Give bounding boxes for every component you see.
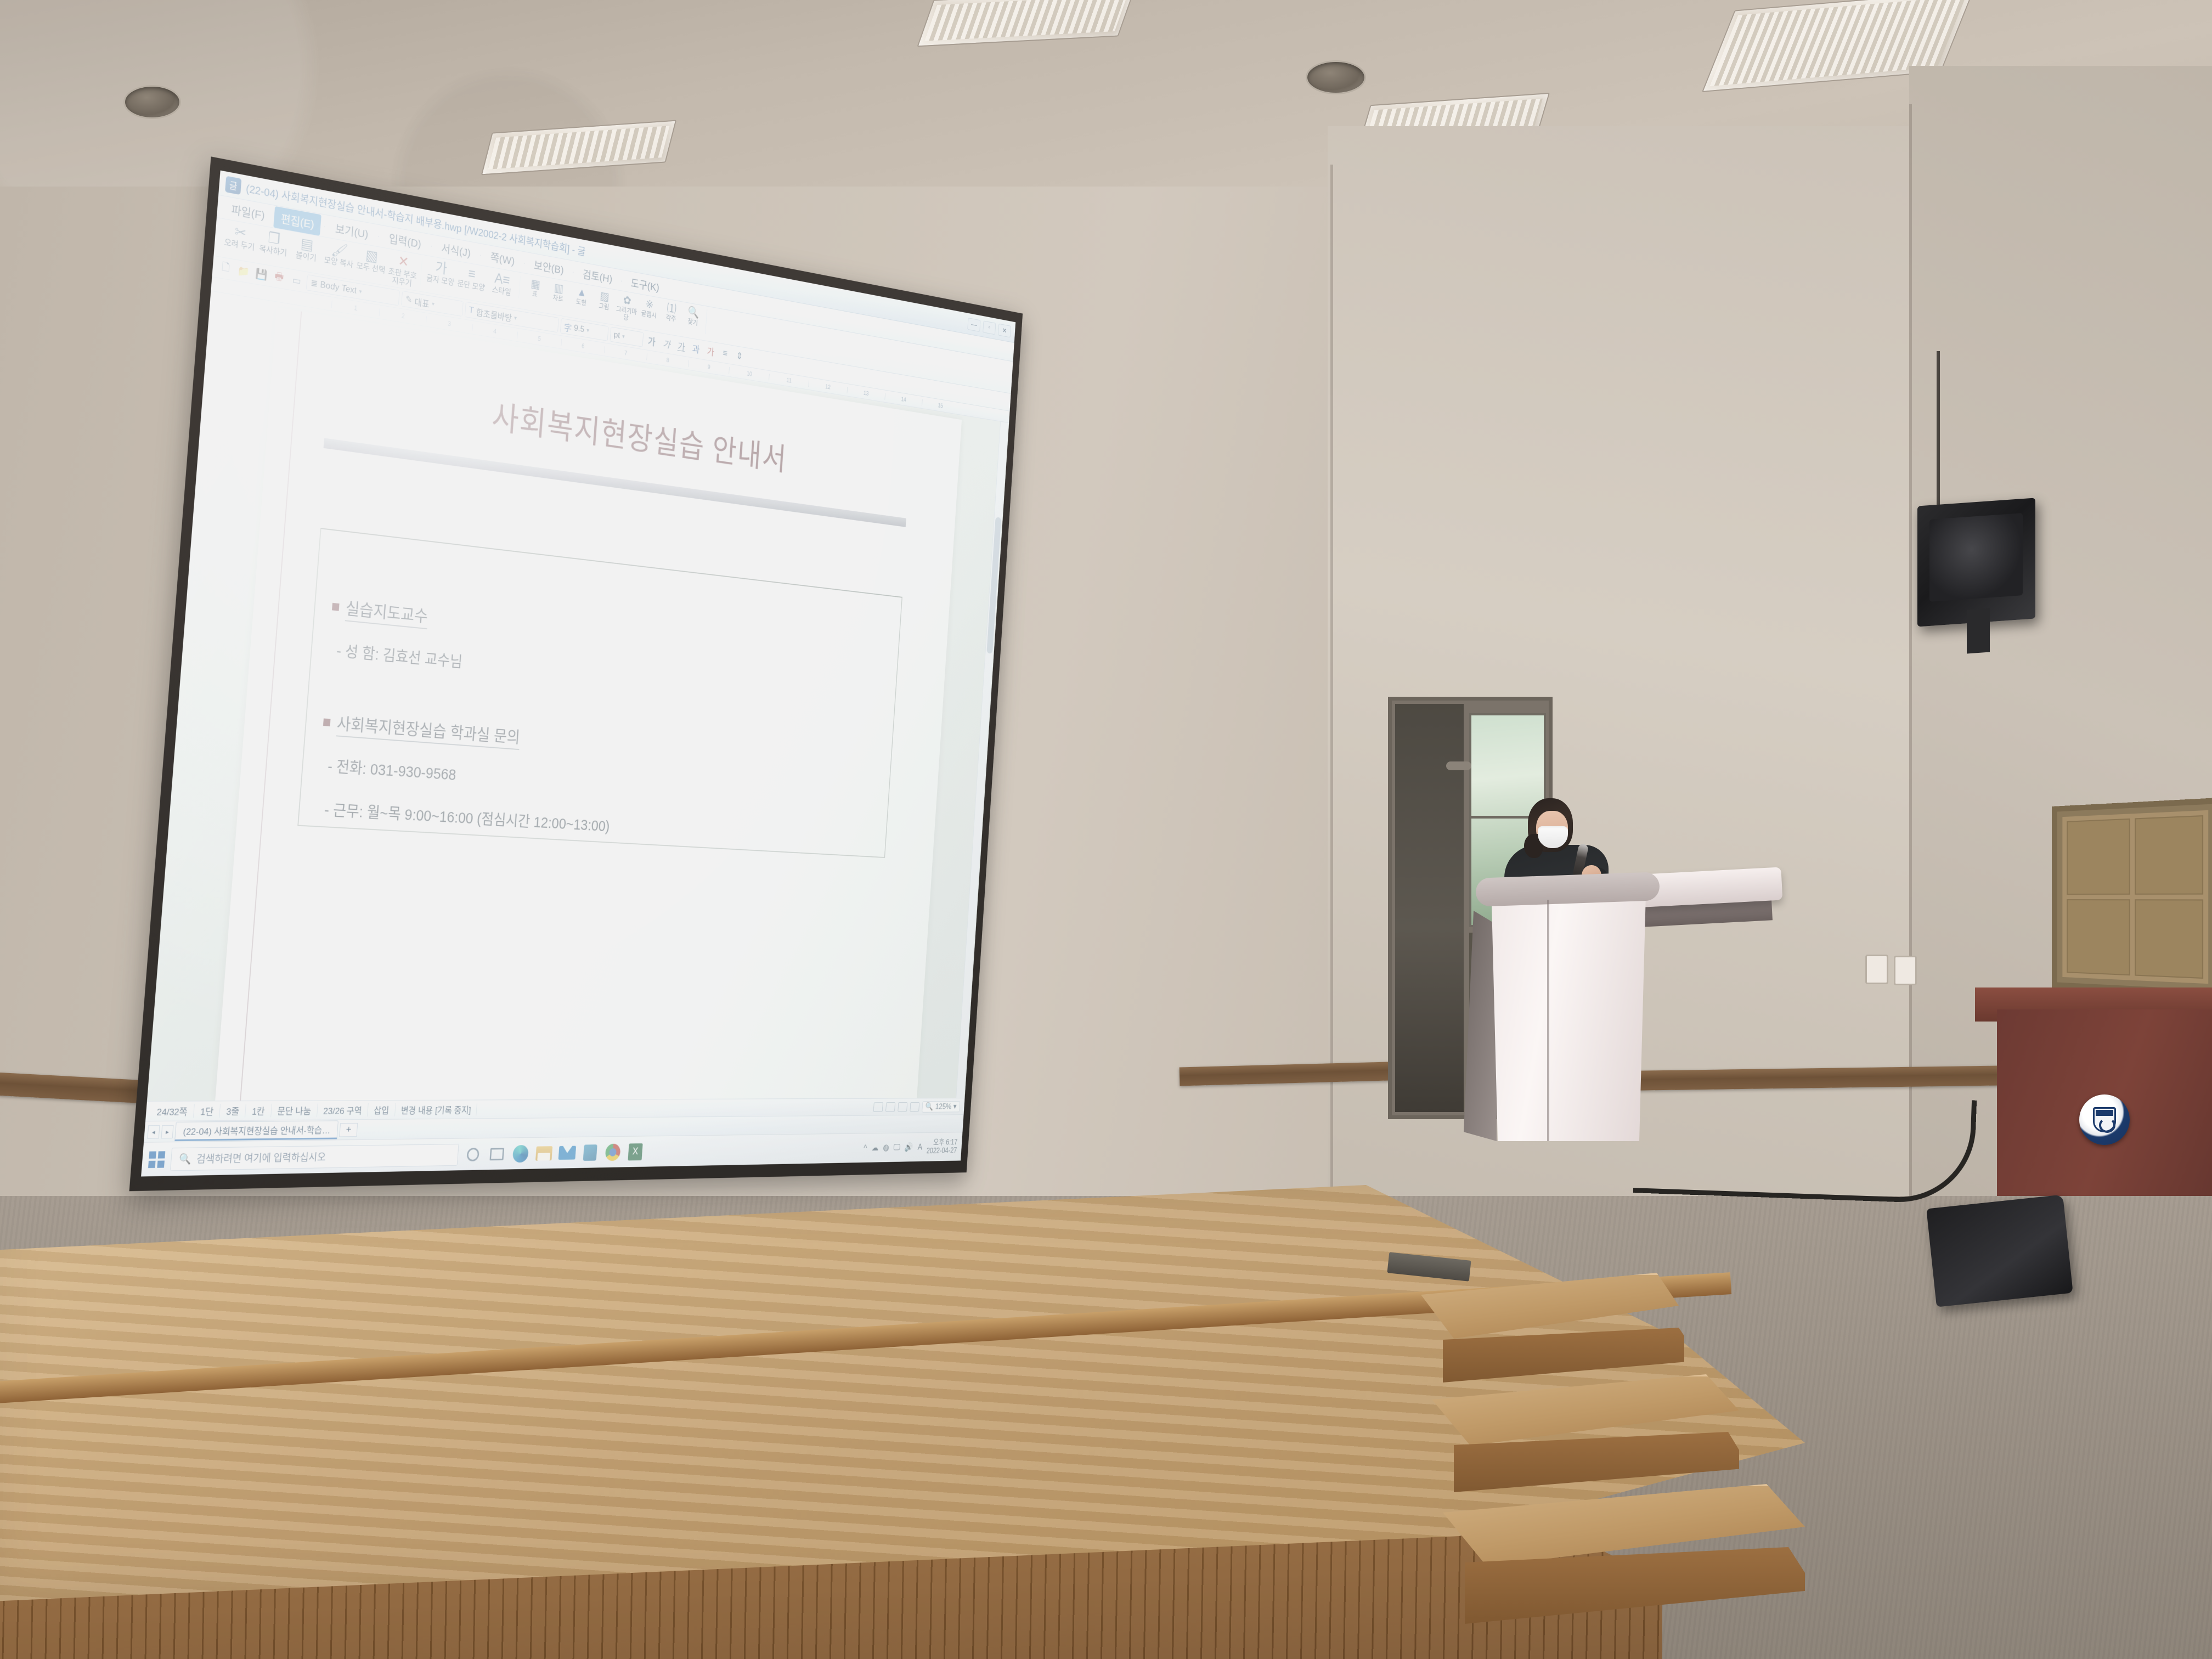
text-color-button[interactable]: 과 [689,341,703,357]
page-view-icon[interactable] [873,1102,883,1111]
shape-icon: ▲ [577,286,587,298]
style-icon: A≡ [494,271,511,287]
app-logo-icon: 글 [225,176,241,195]
clipart-button[interactable]: ✿ 그리기마당 [616,293,638,322]
bullet-text: 실습지도교수 [345,595,428,629]
wordart-icon: ※ [645,298,654,311]
chevron-down-icon: ▾ [622,332,625,340]
menu-separator: · [523,258,526,267]
cut-button[interactable]: ✂ 오려 두기 [223,223,257,252]
store-icon[interactable] [580,1142,600,1163]
square-bullet-icon [323,719,330,727]
projection-screen: 글 (22-04) 사회복지현장실습 안내서-학습지 배부용.hwp [/W20… [141,171,1015,1177]
status-track-changes[interactable]: 변경 내용 [기록 중지] [395,1103,478,1116]
status-right-controls: 🔍 125% ▾ [873,1101,962,1113]
find-button[interactable]: 🔍 찾기 [682,305,704,327]
clock-time: 오후 6:17 [927,1138,957,1147]
excel-icon[interactable]: X [626,1142,645,1162]
paste-icon: ▤ [300,236,314,253]
ceiling-downlight [1306,60,1366,94]
find-label: 찾기 [687,318,698,326]
file-explorer-icon[interactable] [534,1143,554,1164]
content-text-box[interactable]: 실습지도교수 - 성 함: 김효선 교수님 사회복지현장실습 학과실 문의 - … [297,528,902,858]
facing-page-icon[interactable] [898,1102,907,1111]
chevron-down-icon: ▾ [953,1102,957,1111]
clear-marks-label: 조판 부호 지우기 [387,267,417,289]
shape-button[interactable]: ▲ 도형 [571,285,593,308]
floor-cable [1633,1088,1977,1205]
hancom-tray-icon[interactable]: ◍ [883,1143,889,1153]
copy-label: 복사하기 [259,245,287,258]
single-page-icon[interactable] [885,1102,895,1111]
tab-next-button[interactable]: ▸ [161,1125,174,1138]
print-icon[interactable]: 🖶 [271,269,287,286]
menu-separator: · [377,232,380,240]
wall-outlet [1865,955,1888,984]
status-insert-mode[interactable]: 삽입 [368,1103,396,1116]
taskbar-search-input[interactable]: 🔍 검색하려면 여기에 입력하십시오 [170,1144,459,1171]
footnote-button[interactable]: ⑴ 각주 [661,301,682,323]
wordart-button[interactable]: ※ 글맵시 [639,297,661,319]
task-view-icon[interactable] [487,1143,507,1164]
paragraph-icon: ≡ [468,267,476,281]
bold-button[interactable]: 가 [645,333,658,349]
close-button[interactable]: ✕ [998,323,1011,337]
paste-label: 붙이기 [296,251,317,263]
font-style-icon: 가 [435,261,448,276]
minimize-button[interactable]: — [967,318,980,332]
tab-prev-button[interactable]: ◂ [147,1125,160,1138]
line-spacing-button[interactable]: ⇕ [733,348,746,364]
unit-combo[interactable]: pt ▾ [610,327,644,347]
font-size-value: 9.5 [573,323,584,335]
status-paragraph-break: 문단 나눔 [271,1104,318,1118]
char-style-icon: ✎ [405,294,413,306]
document-tab[interactable]: (22-04) 사회복지현장실습 안내서-학습… [174,1120,338,1141]
open-icon[interactable]: 📁 [235,263,252,280]
select-all-label: 모두 선택 [356,262,385,275]
menu-separator: · [430,241,433,250]
clear-marks-button[interactable]: ✕ 조판 부호 지우기 [387,252,419,289]
display-icon[interactable]: 🖵 [893,1143,900,1153]
style-combo-value: Body Text [320,279,357,296]
new-document-icon[interactable]: 🗋 [217,259,234,277]
windows-logo-icon[interactable] [148,1151,165,1168]
italic-button[interactable]: 가 [660,336,674,352]
preview-icon[interactable]: ▭ [289,272,304,290]
chevron-down-icon: ▾ [359,287,362,295]
podium-door-seam [1547,900,1549,1141]
taskbar-clock[interactable]: 오후 6:17 2022-04-27 [926,1138,957,1155]
new-tab-button[interactable]: + [339,1122,358,1137]
speaker-bracket [1967,608,1990,654]
char-style-value: 대표 [414,295,430,310]
status-page: 24/32쪽 [150,1104,195,1119]
table-button[interactable]: ▦ 표 [524,276,547,299]
style-combo-icon: ≣ [310,278,318,289]
status-char: 1칸 [245,1104,272,1118]
edge-icon[interactable] [511,1143,531,1164]
chevron-down-icon: ▾ [586,326,590,334]
unit-value: pt [613,330,620,341]
speaker-cable [1937,351,1940,516]
menu-separator: · [620,276,623,284]
picture-label: 그림 [599,302,610,311]
notice-board [2052,798,2212,996]
notice-board-cell [2067,899,2130,975]
lecture-hall-scene: 글 (22-04) 사회복지현장실습 안내서-학습지 배부용.hwp [/W20… [0,0,2212,1659]
chevron-down-icon: ▾ [514,314,517,322]
door-handle[interactable] [1446,761,1471,770]
maximize-button[interactable]: ▫ [983,320,996,335]
mail-icon[interactable] [557,1143,577,1163]
menu-separator: · [572,267,575,275]
chrome-icon[interactable] [603,1142,622,1162]
notice-board-cell [2135,815,2203,895]
shape-label: 도형 [575,298,586,307]
char-shape-label: 글자 모양 [426,274,455,287]
system-tray: ^ ☁ ◍ 🖵 🔊 A 오후 6:17 2022-04-27 [863,1138,957,1156]
highlight-button[interactable]: 가 [704,343,717,359]
find-icon: 🔍 [687,306,699,319]
tray-chevron-icon[interactable]: ^ [864,1143,867,1153]
ime-indicator[interactable]: A [917,1142,922,1152]
ruler-tick [283,296,332,304]
table-icon: ▦ [531,278,541,290]
notice-board-inner [2062,810,2208,984]
align-button[interactable]: ≡ [719,346,732,362]
font-name-icon: T [469,305,474,316]
wall-speaker [1917,498,2035,627]
status-column: 1단 [194,1104,221,1118]
zoom-value: 125% [935,1102,952,1111]
digital-podium[interactable] [1481,883,1646,1141]
paragraph-shape-button[interactable]: ≡ 문단 모양 [456,264,487,292]
menu-separator: · [479,250,482,259]
menu-separator: · [323,222,326,230]
ceiling-downlight [123,85,181,119]
chevron-down-icon: ▾ [432,300,435,308]
volume-icon[interactable]: 🔊 [905,1142,914,1152]
copy-button[interactable]: ❐ 복사하기 [257,229,290,258]
save-icon[interactable]: 💾 [253,266,270,284]
clipart-icon: ✿ [623,295,631,307]
footnote-icon: ⑴ [667,302,676,315]
chart-icon: ▥ [554,282,563,295]
screen-surface: 글 (22-04) 사회복지현장실습 안내서-학습지 배부용.hwp [/W20… [141,171,1015,1177]
clear-marks-icon: ✕ [398,254,410,270]
hancom-word-processor-window: 글 (22-04) 사회복지현장실습 안내서-학습지 배부용.hwp [/W20… [141,171,1015,1177]
underline-button[interactable]: 가 [675,338,689,354]
window-controls: — ▫ ✕ [967,318,1011,337]
floor-monitor-speaker [1926,1194,2073,1307]
char-shape-button[interactable]: 가 글자 모양 [426,259,456,287]
font-name-value: 함초롬바탕 [476,305,512,324]
status-section: 23/26 구역 [317,1103,369,1117]
format-painter-button[interactable]: 🖌 모양 복사 [323,240,356,269]
wordart-label: 글맵시 [641,309,657,319]
format-painter-label: 모양 복사 [324,256,353,269]
onedrive-icon[interactable]: ☁ [871,1143,879,1153]
wall-seam [1330,165,1333,1207]
picture-button[interactable]: ▨ 그림 [593,289,616,312]
footnote-label: 각주 [665,314,676,322]
stair-step [1421,1273,1679,1339]
cortana-icon[interactable] [463,1144,483,1165]
search-placeholder: 검색하려면 여기에 입력하십시오 [196,1149,326,1166]
notice-board-cell [2067,819,2130,895]
status-line: 3줄 [219,1104,246,1118]
page-left-margin-rule [240,312,302,1101]
cut-label: 오려 두기 [224,238,255,252]
university-emblem [2079,1094,2130,1145]
scissors-icon: ✂ [234,224,247,241]
picture-icon: ▨ [600,290,610,303]
stair-riser [1443,1328,1684,1388]
document-area[interactable]: 사회복지현장실습 안내서 실습지도교수 - 성 함: 김효선 교수님 [147,291,1009,1101]
notice-board-cell [2135,899,2203,979]
paragraph-shape-label: 문단 모양 [457,279,485,292]
chart-button[interactable]: ▥ 차트 [547,281,569,303]
paste-button[interactable]: ▤ 붙이기 [290,235,323,264]
stage-stairs[interactable] [1421,1273,1882,1657]
style-button[interactable]: A≡ 스타일 [487,270,517,297]
select-all-button[interactable]: ▧ 모두 선택 [356,246,387,275]
copy-icon: ❐ [267,230,280,247]
select-all-icon: ▧ [365,248,378,264]
format-painter-icon: 🖌 [331,242,349,259]
square-bullet-icon [332,603,340,611]
wall-outlet [1894,956,1917,985]
emblem-shield-icon [2093,1107,2116,1132]
table-label: 표 [532,290,538,298]
chart-label: 차트 [552,294,563,303]
zoom-control[interactable]: 🔍 125% ▾ [922,1101,960,1113]
fit-width-icon[interactable] [910,1102,919,1111]
font-size-icon: 字 [564,320,572,334]
clock-date: 2022-04-27 [926,1147,957,1155]
search-icon: 🔍 [178,1152,191,1165]
clipart-label: 그리기마당 [616,305,637,322]
magnifier-icon: 🔍 [925,1102,934,1111]
document-page[interactable]: 사회복지현장실습 안내서 실습지도교수 - 성 함: 김효선 교수님 [215,307,962,1101]
